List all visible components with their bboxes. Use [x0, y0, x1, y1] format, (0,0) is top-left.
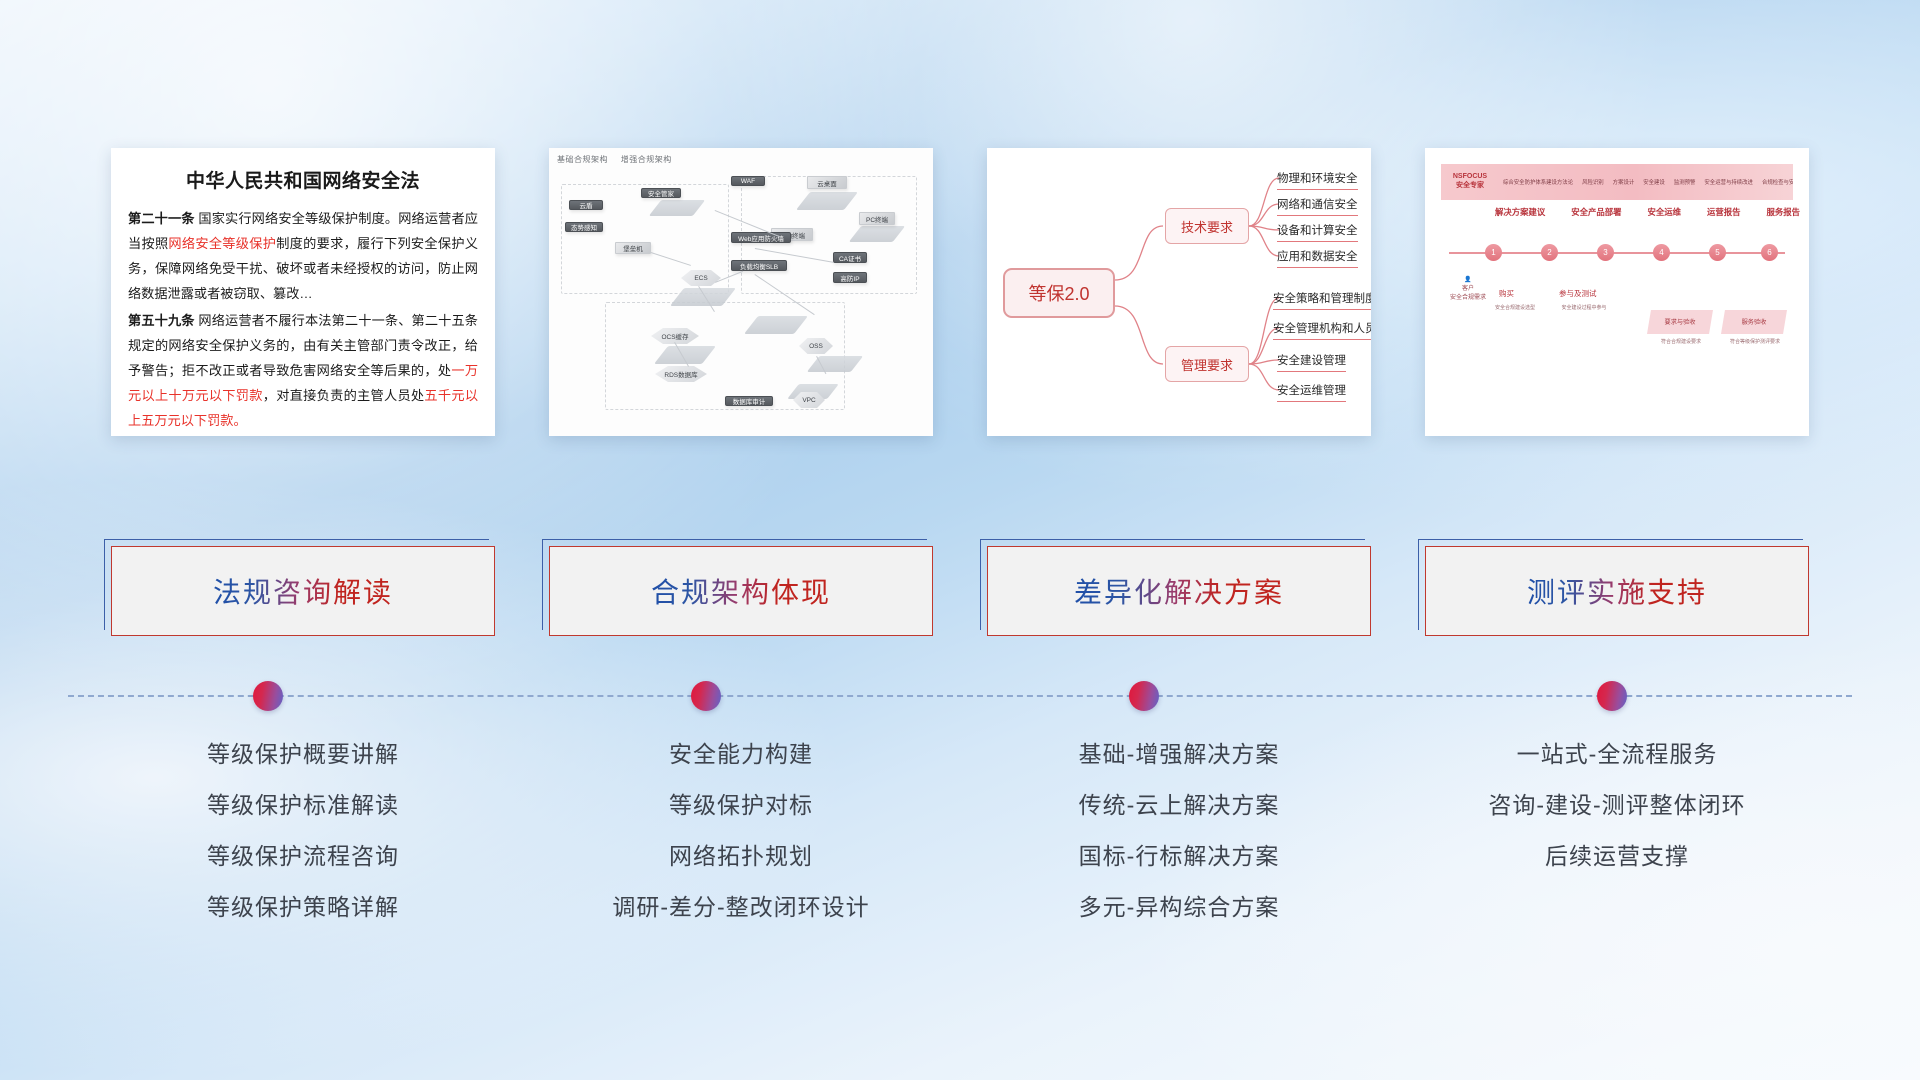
- nsfocus-banner-items: 综合安全防护体系建设方法论 风险识别 方案设计 安全建设 监测预警 安全运营与持…: [1503, 178, 1809, 186]
- list-item: 等级保护概要讲解: [207, 735, 399, 769]
- nsfocus-step-1[interactable]: 1: [1485, 244, 1502, 261]
- nsfocus-chip-title-1[interactable]: 参与及测试: [1559, 288, 1597, 299]
- mindmap-leaf-tech-4[interactable]: 应用和数据安全: [1277, 248, 1358, 268]
- nsfocus-customer-block: 👤 客户 安全合规需求: [1445, 276, 1491, 303]
- list-item: 等级保护流程咨询: [207, 837, 399, 871]
- mindmap-leaf-mgmt-1[interactable]: 安全策略和管理制度: [1273, 290, 1371, 310]
- step-list-4: 一站式-全流程服务 咨询-建设-测评整体闭环 后续运营支撑: [1425, 735, 1809, 922]
- nsfocus-customer-sub: 安全合规需求: [1445, 294, 1491, 303]
- nsfocus-banner-item-2: 方案设计: [1613, 178, 1635, 186]
- nsfocus-step-5[interactable]: 5: [1709, 244, 1726, 261]
- list-item: 咨询-建设-测评整体闭环: [1488, 786, 1745, 820]
- list-item: 等级保护对标: [669, 786, 813, 820]
- nsfocus-step-6[interactable]: 6: [1761, 244, 1778, 261]
- nsfocus-banner-item-1: 风险识别: [1582, 178, 1604, 186]
- step-label-box-1[interactable]: 法规咨询解读: [111, 546, 495, 636]
- nsfocus-chip-sub-3: 符合等级保护测评要求: [1707, 338, 1803, 345]
- nsfocus-logo: NSFOCUS 安全专家: [1443, 172, 1497, 190]
- law-article-59-label: 第五十九条: [128, 313, 195, 328]
- nsfocus-tag-2[interactable]: 要求与验收: [1647, 310, 1713, 334]
- step-label-box-3[interactable]: 差异化解决方案: [987, 546, 1371, 636]
- nsfocus-phase-3: 运营报告: [1707, 206, 1741, 218]
- nsfocus-banner-item-6: 合规检查与安全能力提升: [1762, 178, 1809, 186]
- timeline-dot-3[interactable]: [1129, 681, 1159, 711]
- card-nsfocus-roadmap[interactable]: 综合安全防护体系建设方法论 风险识别 方案设计 安全建设 监测预警 安全运营与持…: [1425, 148, 1809, 436]
- mindmap-leaf-tech-2[interactable]: 网络和通信安全: [1277, 196, 1358, 216]
- arch-node-waf[interactable]: WAF: [731, 176, 765, 186]
- mindmap-leaf-mgmt-3[interactable]: 安全建设管理: [1277, 352, 1346, 372]
- mindmap-leaf-mgmt-4[interactable]: 安全运维管理: [1277, 382, 1346, 402]
- step-label-text-1: 法规咨询解读: [213, 571, 393, 611]
- card-compliance-architecture[interactable]: 基础合规架构 增强合规架构 云盾 态势感知 安全管家 WAF 堡垒机 云桌面 P…: [549, 148, 933, 436]
- arch-node-web-firewall[interactable]: Web应用防火墙: [731, 232, 791, 243]
- list-item: 安全能力构建: [669, 735, 813, 769]
- arch-diagram-canvas: 云盾 态势感知 安全管家 WAF 堡垒机 云桌面 PC终端 移动终端 Web应用…: [555, 170, 927, 430]
- nsfocus-step-4[interactable]: 4: [1653, 244, 1670, 261]
- mindmap-leaf-tech-3[interactable]: 设备和计算安全: [1277, 222, 1358, 242]
- arch-node-situation[interactable]: 态势感知: [565, 222, 603, 232]
- law-article-21-label: 第二十一条: [128, 211, 195, 226]
- step-labels-row: 法规咨询解读 合规架构体现 差异化解决方案 测评实施支持: [0, 546, 1920, 640]
- nsfocus-chip-sub-1: 安全建设过程中参与: [1535, 304, 1633, 311]
- nsfocus-logo-line1: NSFOCUS: [1443, 172, 1497, 181]
- preview-cards-row: 中华人民共和国网络安全法 第二十一条 国家实行网络安全等级保护制度。网络运营者应…: [0, 148, 1920, 438]
- nsfocus-phase-row: 解决方案建议 安全产品部署 安全运维 运营报告 服务报告: [1495, 206, 1800, 218]
- step-label-box-2[interactable]: 合规架构体现: [549, 546, 933, 636]
- mindmap-branch-technical[interactable]: 技术要求: [1165, 208, 1249, 244]
- nsfocus-phase-0: 解决方案建议: [1495, 206, 1545, 218]
- arch-node-db-audit[interactable]: 数据库审计: [725, 396, 773, 406]
- card-mindmap-dengbao[interactable]: 等保2.0 技术要求 管理要求 物理和环境安全 网络和通信安全 设备和计算安全 …: [987, 148, 1371, 436]
- nsfocus-step-3[interactable]: 3: [1597, 244, 1614, 261]
- law-article-59-text-b: ，对直接负责的主管人员处: [263, 388, 425, 403]
- nsfocus-banner-item-4: 监测预警: [1674, 178, 1696, 186]
- step-list-1: 等级保护概要讲解 等级保护标准解读 等级保护流程咨询 等级保护策略详解: [111, 735, 495, 922]
- list-item: 后续运营支撑: [1545, 837, 1689, 871]
- step-label-box-4[interactable]: 测评实施支持: [1425, 546, 1809, 636]
- step-list-2: 安全能力构建 等级保护对标 网络拓扑规划 调研-差分-整改闭环设计: [549, 735, 933, 922]
- mindmap-branch-management[interactable]: 管理要求: [1165, 346, 1249, 382]
- timeline-dot-2[interactable]: [691, 681, 721, 711]
- card-cybersecurity-law[interactable]: 中华人民共和国网络安全法 第二十一条 国家实行网络安全等级保护制度。网络运营者应…: [111, 148, 495, 436]
- timeline-dashed-line: [68, 695, 1852, 697]
- nsfocus-phase-4: 服务报告: [1767, 206, 1801, 218]
- list-item: 等级保护策略详解: [207, 888, 399, 922]
- law-article-21: 第二十一条 国家实行网络安全等级保护制度。网络运营者应当按照网络安全等级保护制度…: [128, 206, 478, 306]
- arch-diagram-header: 基础合规架构 增强合规架构: [557, 154, 682, 165]
- arch-node-gaofang-ip[interactable]: 高防IP: [833, 272, 867, 283]
- nsfocus-banner-item-3: 安全建设: [1643, 178, 1665, 186]
- mindmap-leaf-tech-1[interactable]: 物理和环境安全: [1277, 170, 1358, 190]
- mindmap-leaf-mgmt-2[interactable]: 安全管理机构和人员: [1273, 320, 1371, 340]
- arch-head-left: 基础合规架构: [557, 155, 608, 164]
- step-lists-row: 等级保护概要讲解 等级保护标准解读 等级保护流程咨询 等级保护策略详解 安全能力…: [0, 735, 1920, 922]
- law-card-title: 中华人民共和国网络安全法: [128, 166, 478, 193]
- list-item: 一站式-全流程服务: [1517, 735, 1718, 769]
- list-item: 传统-云上解决方案: [1079, 786, 1280, 820]
- mindmap-root-node[interactable]: 等保2.0: [1003, 268, 1115, 318]
- arch-head-right: 增强合规架构: [621, 155, 672, 164]
- list-item: 网络拓扑规划: [669, 837, 813, 871]
- nsfocus-step-2[interactable]: 2: [1541, 244, 1558, 261]
- nsfocus-customer-icon: 👤: [1445, 276, 1491, 285]
- timeline-dot-4[interactable]: [1597, 681, 1627, 711]
- step-label-text-3: 差异化解决方案: [1074, 571, 1284, 611]
- list-item: 调研-差分-整改闭环设计: [612, 888, 869, 922]
- list-item: 国标-行标解决方案: [1079, 837, 1280, 871]
- arch-node-slb[interactable]: 负载均衡SLB: [731, 260, 787, 271]
- arch-node-cloud-desktop[interactable]: 云桌面: [807, 176, 847, 189]
- nsfocus-banner-item-0: 综合安全防护体系建设方法论: [1503, 178, 1573, 186]
- step-list-3: 基础-增强解决方案 传统-云上解决方案 国标-行标解决方案 多元-异构综合方案: [987, 735, 1371, 922]
- nsfocus-customer-label: 客户: [1445, 285, 1491, 294]
- list-item: 等级保护标准解读: [207, 786, 399, 820]
- nsfocus-phase-1: 安全产品部署: [1571, 206, 1621, 218]
- arch-node-pc-terminal[interactable]: PC终端: [859, 212, 895, 225]
- timeline-dot-1[interactable]: [253, 681, 283, 711]
- arch-node-yundun[interactable]: 云盾: [569, 200, 603, 210]
- arch-node-ca[interactable]: CA证书: [833, 252, 867, 263]
- nsfocus-phase-2: 安全运维: [1648, 206, 1682, 218]
- nsfocus-tag-3[interactable]: 服务验收: [1721, 310, 1787, 334]
- step-label-text-2: 合规架构体现: [651, 571, 831, 611]
- nsfocus-logo-line2: 安全专家: [1443, 181, 1497, 190]
- list-item: 多元-异构综合方案: [1079, 888, 1280, 922]
- nsfocus-chip-title-0[interactable]: 购买: [1499, 288, 1514, 299]
- law-article-59: 第五十九条 网络运营者不履行本法第二十一条、第二十五条规定的网络安全保护义务的，…: [128, 308, 478, 433]
- nsfocus-banner-item-5: 安全运营与持续改进: [1704, 178, 1753, 186]
- law-article-21-highlight: 网络安全等级保护: [168, 236, 276, 251]
- arch-node-anquanguanjia[interactable]: 安全管家: [641, 188, 681, 198]
- step-label-text-4: 测评实施支持: [1527, 571, 1707, 611]
- list-item: 基础-增强解决方案: [1079, 735, 1280, 769]
- arch-node-baoleiji[interactable]: 堡垒机: [615, 242, 651, 254]
